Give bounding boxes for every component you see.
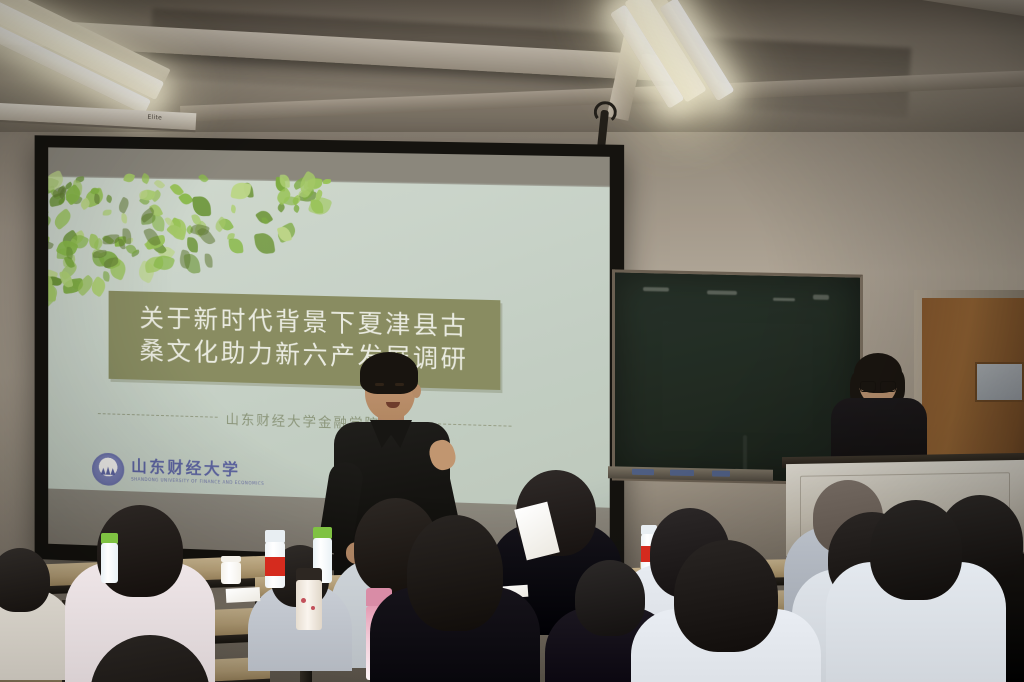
university-logo-text: 山东财经大学 SHANDONG UNIVERSITY OF FINANCE AN… [131, 458, 264, 485]
leaf-icon [323, 179, 331, 184]
leaf-icon [205, 254, 213, 268]
leaf-icon [123, 172, 135, 184]
leaf-icon [48, 215, 53, 228]
person-audience [45, 635, 255, 682]
water-bottle-red-label [265, 530, 285, 588]
leaf-icon [280, 175, 290, 188]
person-audience [631, 540, 821, 682]
leaf-icon [228, 238, 243, 254]
roller-brand-label: Elite [147, 114, 162, 122]
door-window [975, 362, 1024, 402]
person-moderator [833, 358, 925, 468]
paper-sheet [226, 587, 261, 603]
classroom-scene: Elite 关于新时代背景下夏津县古 桑文化助力新六产发展调研 山东财经大学金融… [0, 0, 1024, 682]
blackboard [612, 269, 863, 485]
university-logo: 山东财经大学 SHANDONG UNIVERSITY OF FINANCE AN… [92, 452, 264, 490]
person-hair [0, 548, 50, 612]
leaf-icon [154, 178, 166, 190]
person-audience [370, 515, 540, 682]
leaf-icon [103, 209, 112, 215]
person-hair [407, 515, 503, 631]
leaf-icon [140, 173, 151, 184]
person-hair [90, 635, 210, 682]
water-bottle-green-cap [101, 533, 118, 583]
leaf-icon [231, 205, 238, 214]
paper-cup-white [221, 556, 241, 584]
leaf-icon [197, 225, 216, 246]
person-hair [870, 500, 962, 600]
thermos-floral-white [296, 568, 322, 630]
leaf-icon [187, 237, 199, 253]
leaf-icon [120, 213, 127, 224]
leaf-icon [198, 172, 209, 183]
person-hair [674, 540, 778, 652]
dash-line-left [97, 414, 217, 419]
university-name-cn: 山东财经大学 [131, 458, 264, 478]
leaf-icon [48, 206, 49, 215]
leaf-icon [116, 197, 130, 214]
leaf-icon [52, 208, 75, 231]
university-emblem-icon [92, 452, 124, 486]
person-audience [826, 500, 1006, 682]
glasses-icon [860, 381, 896, 390]
university-name-en: SHANDONG UNIVERSITY OF FINANCE AND ECONO… [131, 477, 264, 486]
leaf-icon [254, 232, 276, 255]
ceiling-beam [760, 0, 1024, 21]
leaf-icon [105, 194, 113, 203]
leaf-icon [231, 181, 252, 200]
